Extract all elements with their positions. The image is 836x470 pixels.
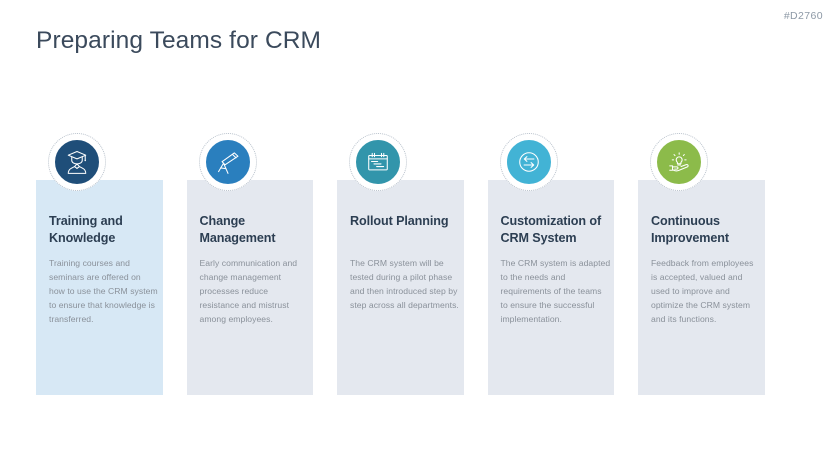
slide-code-label: #D2760 xyxy=(784,10,823,22)
icon-badge xyxy=(199,133,257,191)
icon-badge xyxy=(48,133,106,191)
hand-lightbulb-icon xyxy=(655,138,703,186)
calendar-board-icon xyxy=(354,138,402,186)
card-description: Feedback from employees is accepted, val… xyxy=(651,257,761,327)
page-title: Preparing Teams for CRM xyxy=(36,27,321,55)
card-title: Training and Knowledge xyxy=(49,213,157,246)
card-description: The CRM system will be tested during a p… xyxy=(350,257,460,313)
card-title: Continuous Improvement xyxy=(651,213,759,246)
card-title: Customization of CRM System xyxy=(501,213,609,246)
card-title: Rollout Planning xyxy=(350,213,458,230)
card-description: Early communication and change managemen… xyxy=(200,257,310,327)
card-row: Training and Knowledge Training courses … xyxy=(36,133,808,395)
card-continuous-improvement[interactable]: Continuous Improvement Feedback from emp… xyxy=(638,133,765,395)
icon-badge xyxy=(349,133,407,191)
card-title: Change Management xyxy=(200,213,308,246)
card-change-management[interactable]: Change Management Early communication an… xyxy=(187,133,314,395)
card-customization-of-crm-system[interactable]: Customization of CRM System The CRM syst… xyxy=(488,133,615,395)
card-training-and-knowledge[interactable]: Training and Knowledge Training courses … xyxy=(36,133,163,395)
exchange-arrows-icon xyxy=(505,138,553,186)
graduate-icon xyxy=(53,138,101,186)
icon-badge xyxy=(500,133,558,191)
slide-canvas: #D2760 Preparing Teams for CRM xyxy=(0,0,836,470)
card-description: The CRM system is adapted to the needs a… xyxy=(501,257,611,327)
icon-badge xyxy=(650,133,708,191)
telescope-icon xyxy=(204,138,252,186)
card-rollout-planning[interactable]: Rollout Planning The CRM system will be … xyxy=(337,133,464,395)
card-description: Training courses and seminars are offere… xyxy=(49,257,159,327)
